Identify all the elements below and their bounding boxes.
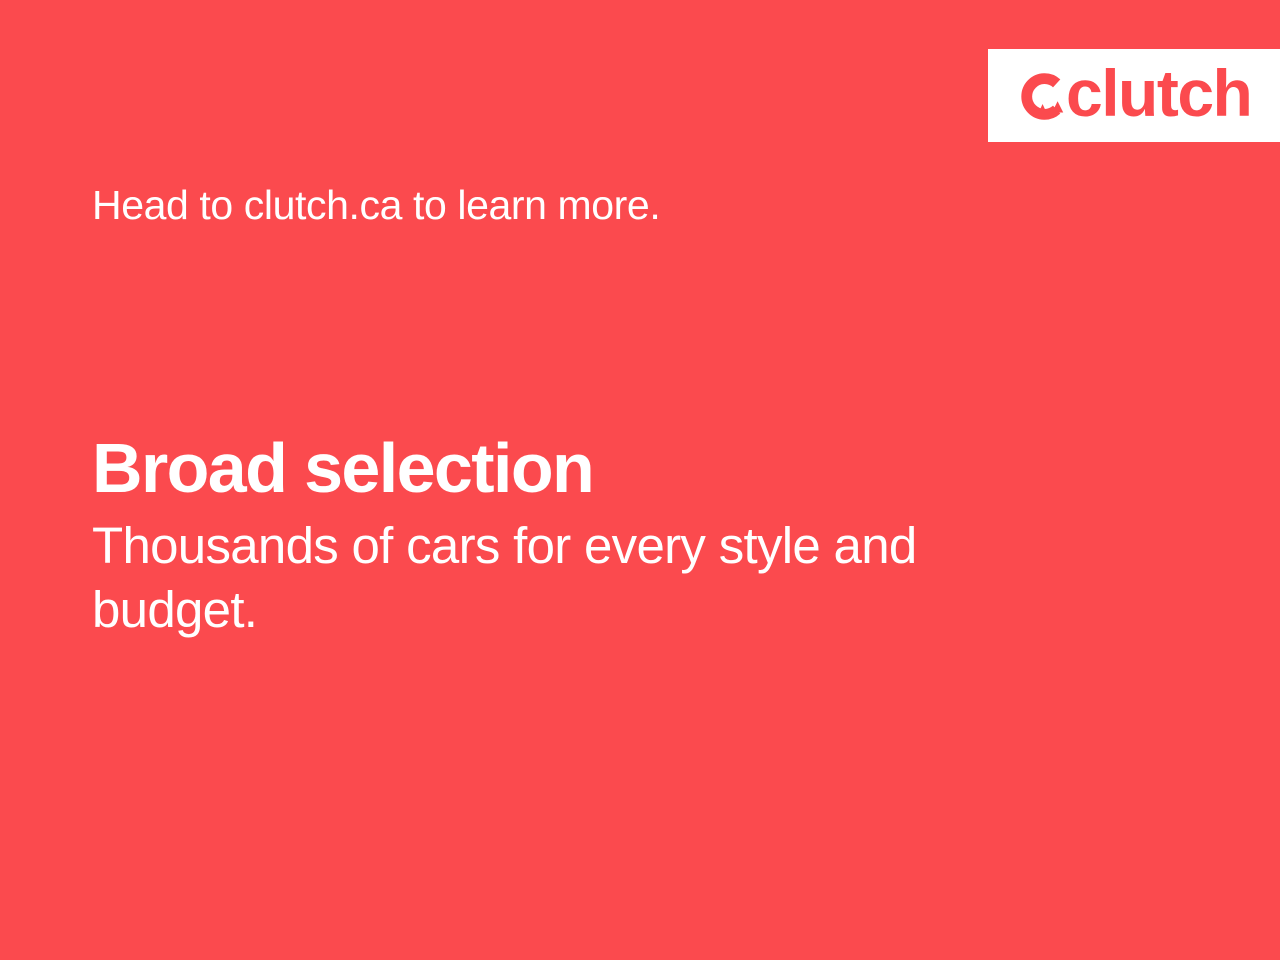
brand-logo-lockup[interactable]: clutch — [1020, 63, 1251, 129]
brand-logo-plate: clutch — [988, 49, 1280, 142]
kicker-text: Head to clutch.ca to learn more. — [92, 181, 660, 229]
page-title: Broad selection — [92, 432, 1092, 504]
clutch-c-mark-icon — [1020, 73, 1067, 120]
copy-block: Broad selection Thousands of cars for ev… — [92, 432, 1092, 643]
slide-canvas: clutch Head to clutch.ca to learn more. … — [0, 0, 1280, 960]
brand-wordmark: clutch — [1066, 60, 1251, 126]
subheadline-text: Thousands of cars for every style and bu… — [92, 514, 1032, 643]
